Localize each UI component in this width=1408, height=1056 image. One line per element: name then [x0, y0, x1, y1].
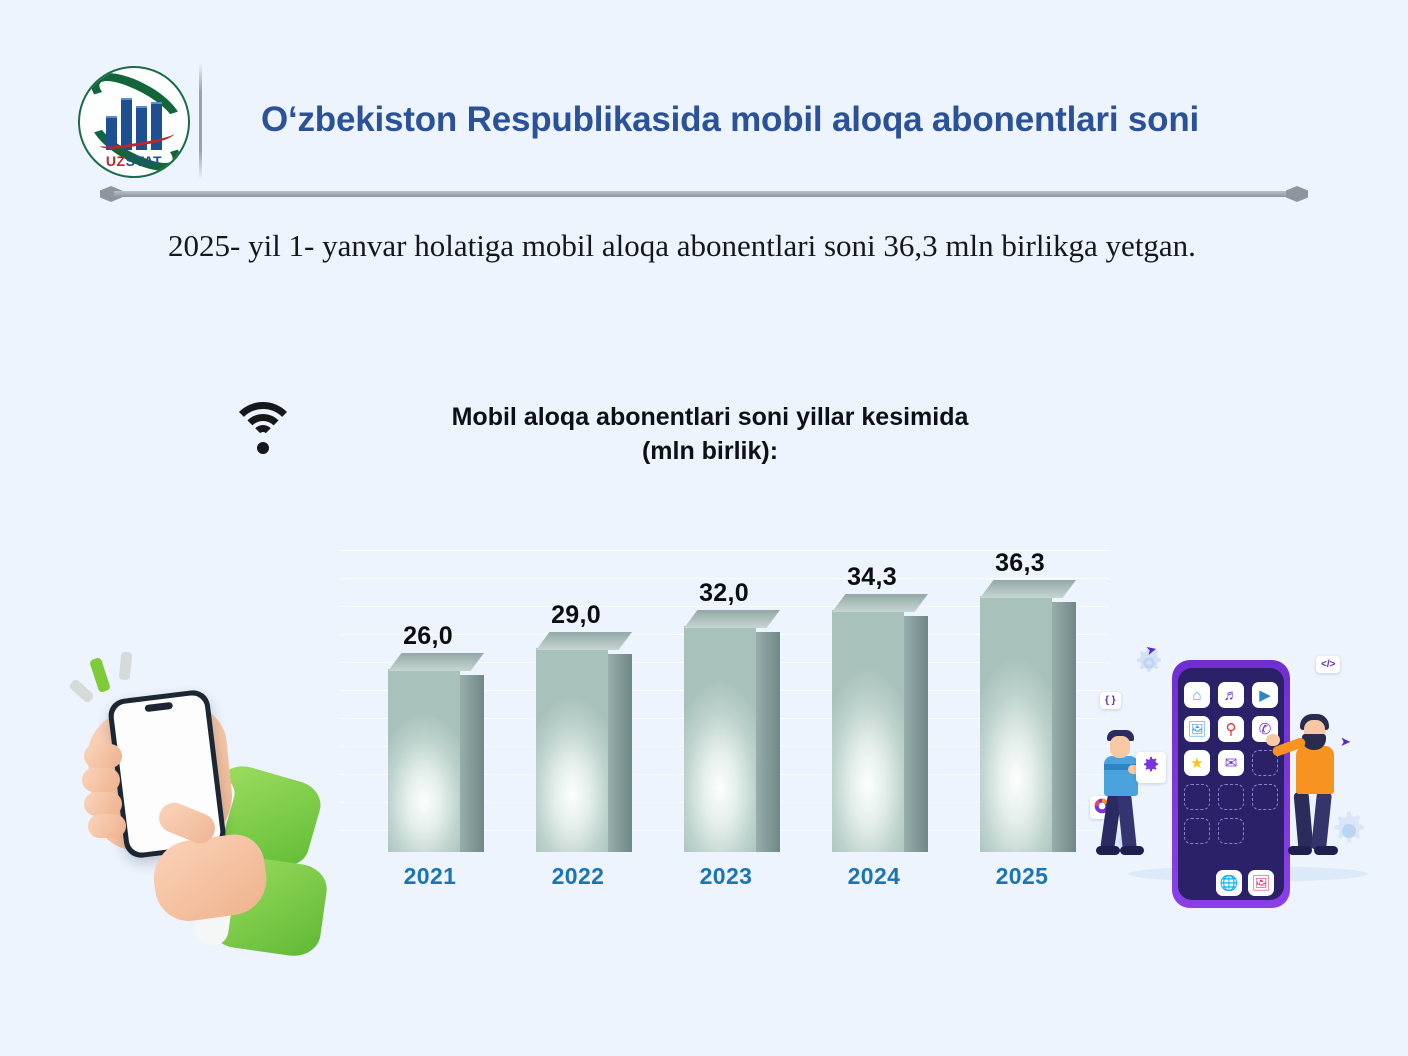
- bar-category-label: 2025: [962, 863, 1082, 890]
- finger: [84, 792, 122, 816]
- code-braces-badge: { }: [1100, 692, 1121, 709]
- bar-top-face: [832, 594, 928, 612]
- page-title: O‘zbekiston Respublikasida mobil aloqa a…: [255, 98, 1205, 141]
- rule-bar: [114, 191, 1294, 197]
- home-icon[interactable]: ⌂: [1184, 682, 1210, 708]
- finger: [84, 744, 122, 768]
- hand-holding-phone-illustration: [62, 648, 352, 968]
- logo-wordmark: UZSTAT: [80, 153, 188, 169]
- globe-icon[interactable]: 🌐: [1216, 870, 1242, 896]
- code-tag-badge: </>: [1316, 656, 1340, 673]
- bar-category-label: 2024: [814, 863, 934, 890]
- spark-icon: [89, 657, 111, 693]
- bar-value-label: 32,0: [664, 579, 784, 608]
- bar-side-face: [1052, 602, 1076, 852]
- bar-chart: 26,0202129,0202232,0202334,3202436,32025: [340, 520, 1110, 890]
- giant-smartphone: ⌂ ♬ ▶ 🖼 ⚲ ✆ ★ ✉ 🌐 🖼: [1172, 660, 1290, 908]
- bar-category-label: 2022: [518, 863, 638, 890]
- chart-heading: Mobil aloqa abonentlari soni yillar kesi…: [330, 400, 1090, 468]
- bar-front-face: [388, 669, 460, 852]
- play-icon[interactable]: ▶: [1252, 682, 1278, 708]
- bar-front-face: [980, 596, 1052, 852]
- bar-column[interactable]: [684, 626, 756, 852]
- bar-value-label: 29,0: [516, 601, 636, 630]
- settings-gear-badge: [1136, 752, 1166, 783]
- rule-cap-right-icon: [1286, 186, 1308, 202]
- bar-top-face: [980, 580, 1076, 598]
- empty-app-slot[interactable]: [1252, 784, 1278, 810]
- bar-column[interactable]: [980, 596, 1052, 852]
- chart-heading-line1: Mobil aloqa abonentlari soni yillar kesi…: [330, 400, 1090, 434]
- empty-app-slot[interactable]: [1184, 818, 1210, 844]
- bar-top-face: [684, 610, 780, 628]
- bar-front-face: [684, 626, 756, 852]
- bar-group: 29,02022: [536, 520, 632, 890]
- empty-app-slot[interactable]: [1184, 784, 1210, 810]
- bar-column[interactable]: [388, 669, 460, 852]
- bar-top-face: [388, 653, 484, 671]
- header-vertical-divider: [199, 62, 202, 180]
- photo-icon[interactable]: 🖼: [1248, 870, 1274, 896]
- uzstat-logo: UZSTAT: [78, 66, 190, 178]
- music-icon[interactable]: ♬: [1218, 682, 1244, 708]
- bar-value-label: 26,0: [368, 622, 488, 651]
- gear-icon: [1141, 756, 1161, 776]
- logo-circle: UZSTAT: [78, 66, 190, 178]
- logo-wordmark-stat: STAT: [126, 153, 162, 169]
- bar-front-face: [536, 648, 608, 852]
- bar-side-face: [756, 632, 780, 852]
- finger: [88, 814, 126, 838]
- bar-value-label: 34,3: [812, 563, 932, 592]
- bar-column[interactable]: [536, 648, 608, 852]
- bar-group: 32,02023: [684, 520, 780, 890]
- spark-icon: [119, 652, 133, 681]
- bar-front-face: [832, 610, 904, 852]
- header-rule: [100, 186, 1308, 202]
- wifi-icon: [227, 398, 299, 462]
- bar-group: 34,32024: [832, 520, 928, 890]
- empty-app-slot[interactable]: [1218, 784, 1244, 810]
- empty-app-slot[interactable]: [1218, 818, 1244, 844]
- location-pin-icon[interactable]: ⚲: [1218, 716, 1244, 742]
- people-smartphone-illustration: ➤ ➤ { } </> ⌂ ♬ ▶ 🖼 ⚲ ✆ ★ ✉ 🌐 🖼: [1088, 624, 1408, 924]
- finger: [82, 768, 120, 792]
- bar-category-label: 2023: [666, 863, 786, 890]
- bar-category-label: 2021: [370, 863, 490, 890]
- spark-icon: [68, 678, 95, 704]
- header: UZSTAT O‘zbekiston Respublikasida mobil …: [0, 0, 1408, 210]
- star-icon[interactable]: ★: [1184, 750, 1210, 776]
- chart-bars: 26,0202129,0202232,0202334,3202436,32025: [340, 520, 1110, 890]
- logo-wordmark-uz: UZ: [106, 153, 126, 169]
- bar-group: 36,32025: [980, 520, 1076, 890]
- chart-heading-line2: (mln birlik):: [330, 434, 1090, 468]
- bar-side-face: [904, 616, 928, 852]
- paper-plane-icon: ➤: [1340, 734, 1351, 750]
- bar-side-face: [608, 654, 632, 852]
- bar-column[interactable]: [832, 610, 904, 852]
- bar-value-label: 36,3: [960, 549, 1080, 578]
- bar-side-face: [460, 675, 484, 852]
- image-icon[interactable]: 🖼: [1184, 716, 1210, 742]
- bar-top-face: [536, 632, 632, 650]
- lede-paragraph: 2025- yil 1- yanvar holatiga mobil aloqa…: [98, 222, 1323, 269]
- mail-icon[interactable]: ✉: [1218, 750, 1244, 776]
- bar-group: 26,02021: [388, 520, 484, 890]
